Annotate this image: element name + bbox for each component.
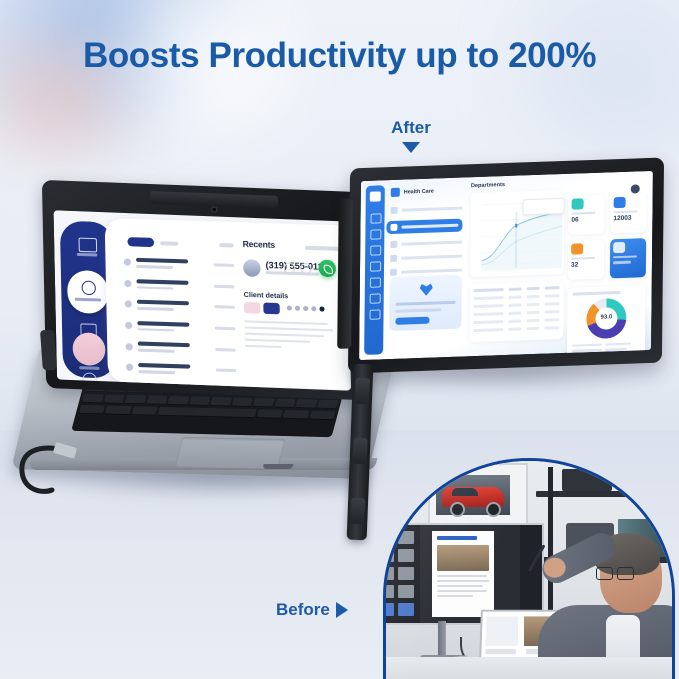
rail-settings-icon[interactable]: [370, 293, 381, 303]
recents-panel: Recents (319) 555-0115 Client details: [243, 239, 340, 252]
donut-value: 93.0: [586, 314, 626, 321]
call-type-icon: [126, 364, 133, 371]
usb-c-cable-icon: [8, 398, 108, 508]
list-item[interactable]: [124, 278, 234, 291]
stat-card-available-beds[interactable]: 32: [568, 240, 604, 280]
sidebar-item-label: [79, 366, 99, 370]
stat-value: 32: [571, 261, 601, 269]
table-row[interactable]: [474, 302, 560, 308]
settings-icon: [82, 372, 97, 387]
chart-title: [573, 291, 621, 296]
users-icon: [614, 197, 626, 208]
promo-title: [396, 301, 456, 306]
promo-card: [389, 275, 462, 332]
laptop-lid: Recents (319) 555-0115 Client details: [42, 180, 362, 400]
rail-files-icon[interactable]: [370, 277, 381, 287]
after-label: After: [375, 118, 447, 138]
brand-label: Health Care: [404, 188, 434, 195]
office-scene: [386, 461, 672, 679]
before-inset-photo: [383, 458, 675, 679]
app-logo-icon: [370, 191, 381, 201]
monitor-icon: [572, 198, 584, 209]
list-item[interactable]: [124, 257, 234, 270]
monitor-display: Health Care: [359, 171, 653, 360]
stat-card-departments[interactable]: 06: [568, 195, 604, 235]
section-title: Departments: [471, 180, 565, 189]
table-row[interactable]: [474, 294, 560, 300]
dashboard-nav: Health Care: [389, 186, 463, 356]
call-time: [214, 306, 234, 310]
chart-tooltip: [523, 198, 565, 215]
call-time: [215, 348, 235, 352]
nav-label: [401, 224, 458, 229]
avatar: [243, 259, 261, 277]
sidebar-item-doctors[interactable]: [390, 239, 462, 249]
stat-row-2: 32: [568, 238, 646, 280]
chart-legend: [475, 198, 499, 210]
call-time: [215, 327, 235, 331]
dashboard-icon: [391, 207, 398, 214]
list-item[interactable]: [125, 320, 235, 333]
nav-label: [401, 241, 462, 246]
doctors-icon: [390, 241, 397, 248]
rail-calendar-icon[interactable]: [370, 245, 381, 255]
list-item[interactable]: [126, 341, 236, 354]
departments-icon: [390, 224, 397, 231]
before-label: Before: [276, 600, 330, 620]
mute-button[interactable]: [284, 262, 295, 274]
call-type-icon: [125, 322, 132, 329]
promo-button[interactable]: [395, 317, 429, 325]
tab-filter[interactable]: [219, 243, 233, 247]
dashboard-main: Departments: [469, 180, 565, 352]
call-time: [214, 285, 234, 289]
product-marketing-image: Boosts Productivity up to 200% After: [0, 0, 679, 679]
departments-table: [469, 281, 564, 342]
donut-legend: [572, 342, 640, 352]
records-icon: [390, 255, 397, 262]
before-callout: Before: [276, 600, 348, 620]
sidebar-item-medical-dashboard[interactable]: [391, 205, 463, 215]
monitor-mount-arm: [337, 198, 353, 349]
grid-logo-icon: [79, 238, 98, 253]
call-active-icon: [81, 281, 96, 296]
stat-label: [572, 212, 596, 215]
call-type-icon: [126, 343, 133, 350]
nav-label: [402, 207, 463, 212]
rail-users-icon[interactable]: [370, 261, 381, 271]
recents-title: Recents: [243, 239, 340, 252]
bed-icon: [571, 243, 583, 254]
calls-app: Recents (319) 555-0115 Client details: [53, 210, 350, 390]
heart-pulse-icon: [420, 284, 433, 296]
add-call-icon[interactable]: [72, 332, 105, 366]
growth-line-chart: [470, 190, 565, 277]
table-row[interactable]: [473, 310, 559, 316]
stat-label: [613, 210, 637, 213]
dashboard-icon-rail: [364, 185, 385, 355]
photo-gloss: [386, 461, 672, 679]
table-header: [474, 286, 560, 292]
after-callout: After: [375, 118, 447, 153]
profile-icon: [390, 269, 397, 276]
patient-report-chart: 93.0: [567, 285, 646, 358]
webcam-icon: [212, 207, 216, 211]
laptop-display: Recents (319) 555-0115 Client details: [53, 210, 350, 390]
sidebar-item-patient-records[interactable]: [390, 253, 462, 263]
page-title: Boosts Productivity up to 200%: [0, 36, 679, 76]
stat-label: [613, 255, 637, 258]
details-paragraph: [244, 320, 335, 353]
list-item[interactable]: [126, 363, 236, 376]
rail-chart-icon[interactable]: [370, 229, 381, 239]
tag-chip[interactable]: [244, 302, 261, 314]
action-dots: [287, 305, 325, 311]
add-department-button[interactable]: [610, 238, 646, 278]
table-row[interactable]: [473, 318, 559, 324]
stat-value: 12003: [613, 215, 643, 223]
laptop-front-notch: [262, 464, 293, 469]
call-time: [216, 369, 236, 373]
call-time: [214, 264, 234, 268]
triangle-down-icon: [402, 142, 420, 153]
sidebar-item-departments[interactable]: [386, 219, 462, 235]
promo-subtitle: [396, 308, 442, 312]
tab-missed[interactable]: [160, 241, 178, 245]
nav-label: [401, 255, 462, 260]
rail-help-icon[interactable]: [369, 309, 380, 319]
client-details-title: Client details: [244, 292, 289, 301]
bracket-foot-left: [40, 330, 57, 370]
calls-content-card: Recents (319) 555-0115 Client details: [105, 218, 351, 390]
donut-chart: 93.0: [586, 298, 626, 339]
portable-monitor-device: Health Care: [348, 157, 664, 373]
stat-value: 06: [571, 216, 601, 224]
stat-label: [571, 257, 595, 260]
health-dashboard: Health Care: [359, 171, 653, 360]
call-type-icon: [124, 259, 131, 266]
dashboard-stats-panel: 06 12003 32: [567, 179, 647, 358]
plus-icon: [613, 242, 625, 253]
sidebar-brand-text: [77, 253, 97, 257]
list-item[interactable]: [125, 299, 235, 312]
tab-all-calls[interactable]: [127, 237, 154, 247]
webcam-bar: [150, 191, 278, 209]
stat-row-1: 06 12003: [568, 193, 646, 235]
health-logo-icon: [391, 188, 400, 197]
nav-label: [401, 269, 462, 274]
table-row[interactable]: [473, 326, 559, 332]
call-list: [124, 257, 237, 387]
phone-call-icon[interactable]: [318, 259, 336, 277]
sidebar-item-settings[interactable]: [79, 372, 100, 390]
tag-chip-active[interactable]: [263, 303, 280, 315]
call-type-icon: [125, 301, 132, 308]
stat-label-2: [613, 261, 631, 264]
brand: Health Care: [391, 186, 463, 198]
video-button[interactable]: [300, 263, 311, 275]
user-avatar-icon[interactable]: [631, 184, 640, 193]
call-type-icon: [124, 280, 131, 287]
triangle-right-icon: [336, 602, 348, 618]
rail-home-icon[interactable]: [370, 213, 381, 223]
stat-card-total-patients[interactable]: 12003: [610, 193, 646, 233]
